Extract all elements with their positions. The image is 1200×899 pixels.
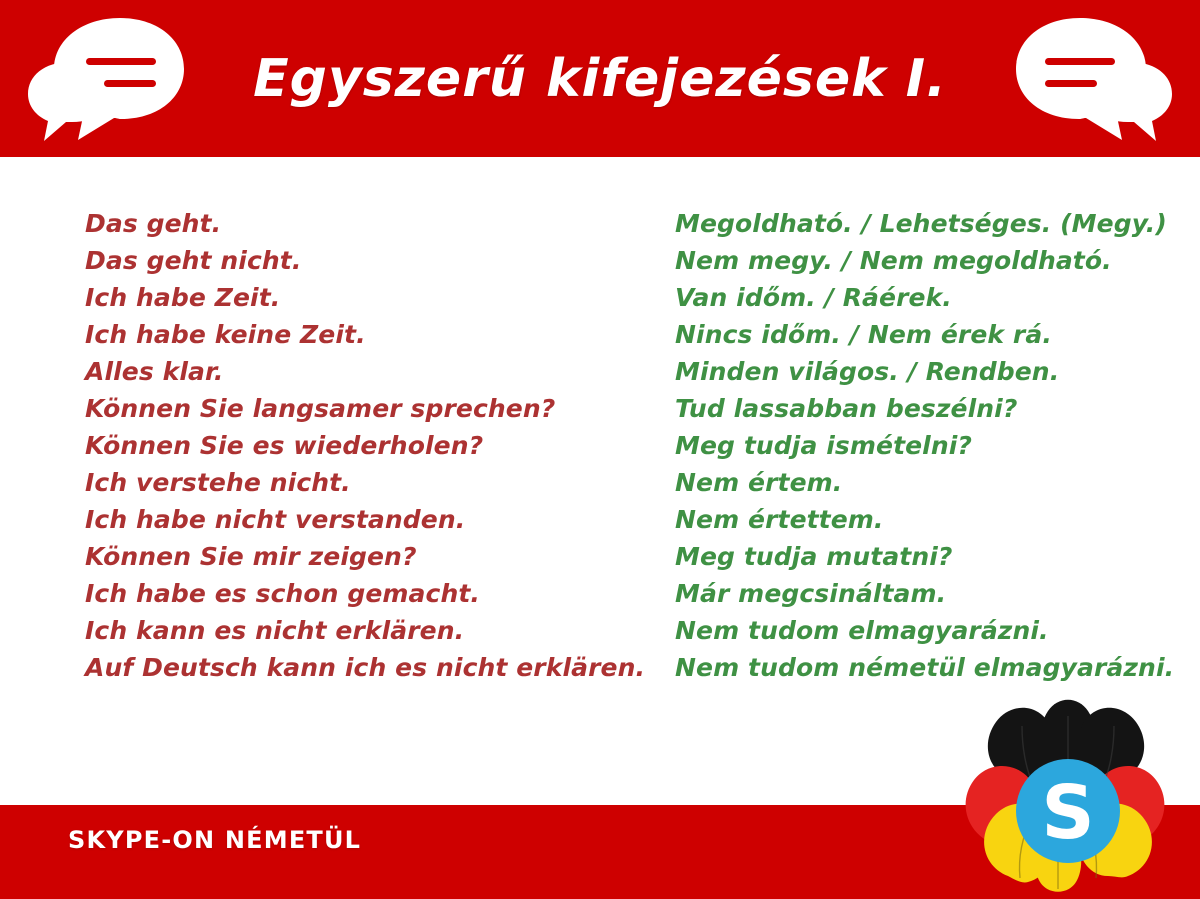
german-phrase: Alles klar. [85,353,645,390]
hungarian-phrase-column: Megoldható. / Lehetséges. (Megy.) Nem me… [675,205,1174,686]
hungarian-phrase: Nem tudom németül elmagyarázni. [675,649,1174,686]
german-phrase: Das geht. [85,205,645,242]
hungarian-phrase: Nem értem. [675,464,1174,501]
hungarian-phrase: Nincs időm. / Nem érek rá. [675,316,1174,353]
german-phrase: Ich habe Zeit. [85,279,645,316]
german-phrase: Ich habe es schon gemacht. [85,575,645,612]
poster: Egyszerű kifejezések I. Das geht. Das ge… [0,0,1200,899]
skype-german-flower-logo: S [938,686,1178,899]
german-phrase: Auf Deutsch kann ich es nicht erklären. [85,649,645,686]
german-phrase: Ich habe nicht verstanden. [85,501,645,538]
speech-bubbles-icon-left [22,14,187,148]
skype-s-letter: S [1041,770,1094,856]
hungarian-phrase: Nem megy. / Nem megoldható. [675,242,1174,279]
hungarian-phrase: Tud lassabban beszélni? [675,390,1174,427]
hungarian-phrase: Megoldható. / Lehetséges. (Megy.) [675,205,1174,242]
german-phrase: Können Sie es wiederholen? [85,427,645,464]
hungarian-phrase: Már megcsináltam. [675,575,1174,612]
german-phrase: Ich verstehe nicht. [85,464,645,501]
german-phrase: Das geht nicht. [85,242,645,279]
hungarian-phrase: Meg tudja mutatni? [675,538,1174,575]
german-phrase: Ich habe keine Zeit. [85,316,645,353]
german-phrase: Ich kann es nicht erklären. [85,612,645,649]
hungarian-phrase: Minden világos. / Rendben. [675,353,1174,390]
brand-name: SKYPE-ON NÉMETÜL [68,826,361,854]
german-phrase-column: Das geht. Das geht nicht. Ich habe Zeit.… [85,205,645,686]
hungarian-phrase: Meg tudja ismételni? [675,427,1174,464]
hungarian-phrase: Nem értettem. [675,501,1174,538]
german-phrase: Können Sie langsamer sprechen? [85,390,645,427]
german-phrase: Können Sie mir zeigen? [85,538,645,575]
header-bar: Egyszerű kifejezések I. [0,0,1200,157]
hungarian-phrase: Nem tudom elmagyarázni. [675,612,1174,649]
speech-bubbles-icon-right [1013,14,1178,148]
hungarian-phrase: Van időm. / Ráérek. [675,279,1174,316]
